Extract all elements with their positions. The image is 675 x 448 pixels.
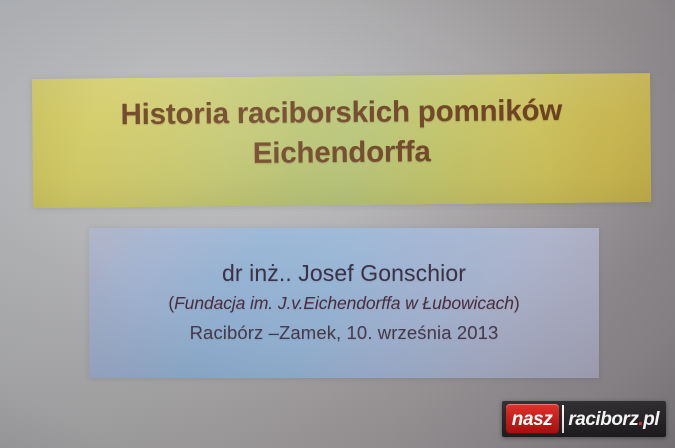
event-venue-date: Racibórz –Zamek, 10. września 2013: [89, 320, 599, 345]
watermark-brand-badge: nasz: [506, 404, 560, 434]
watermark-domain: raciborz.pl: [568, 404, 659, 434]
slide-title-line-2: Eichendorffa: [253, 135, 431, 170]
watermark-domain-name: raciborz: [568, 410, 638, 429]
projected-slide-photo: Historia raciborskich pomników Eichendor…: [0, 0, 675, 448]
author-affiliation: (Fundacja im. J.v.Eichendorffa w Łubowic…: [89, 291, 599, 315]
affiliation-text: Fundacja im. J.v.Eichendorffa w Łubowica…: [174, 293, 514, 313]
watermark-separator-bar: [562, 405, 564, 433]
slide-title-band: Historia raciborskich pomników Eichendor…: [32, 73, 651, 208]
slide-subtitle-content: dr inż.. Josef Gonschior (Fundacja im. J…: [89, 228, 599, 345]
affiliation-close-paren: ): [514, 293, 520, 313]
author-name: dr inż.. Josef Gonschior: [89, 258, 599, 288]
slide-title: Historia raciborskich pomników Eichendor…: [32, 73, 651, 176]
watermark-brand-text: nasz: [512, 410, 553, 429]
projection-light-tint: [0, 0, 675, 448]
site-watermark-logo: nasz raciborz.pl: [502, 401, 666, 437]
slide-title-line-1: Historia raciborskich pomników: [120, 94, 562, 131]
watermark-domain-tld: pl: [643, 410, 659, 429]
slide-subtitle-box: dr inż.. Josef Gonschior (Fundacja im. J…: [89, 228, 599, 378]
